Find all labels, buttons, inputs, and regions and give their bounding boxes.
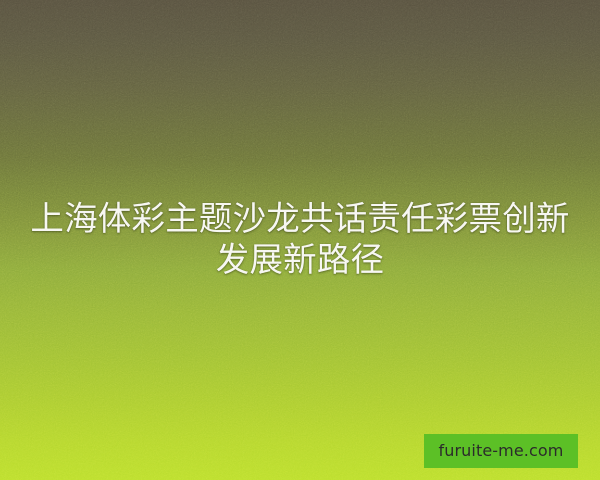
watermark-badge: furuite-me.com <box>424 434 578 468</box>
article-card: 上海体彩主题沙龙共话责任彩票创新发展新路径 furuite-me.com <box>0 0 600 480</box>
background-gradient <box>0 0 600 480</box>
watermark-domain-label: furuite-me.com <box>439 443 564 459</box>
